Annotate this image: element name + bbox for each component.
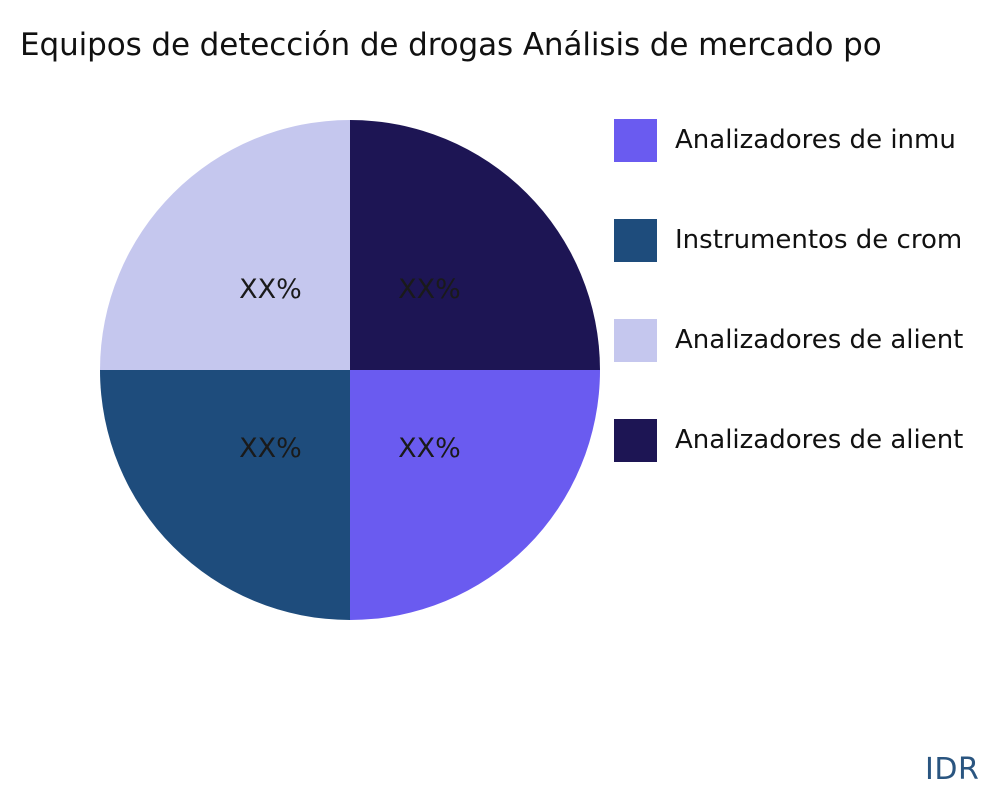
legend-swatch-icon: [614, 319, 657, 362]
legend-swatch-icon: [614, 119, 657, 162]
legend-item-label: Analizadores de inmu: [675, 119, 956, 162]
watermark-idr: IDR: [925, 752, 979, 788]
legend-item[interactable]: Analizadores de alient: [614, 419, 1000, 462]
pie-slice-label: XX%: [239, 274, 302, 305]
legend-item[interactable]: Analizadores de alient: [614, 319, 1000, 362]
legend-swatch-icon: [614, 419, 657, 462]
page-title: Equipos de detección de drogas Análisis …: [20, 25, 1000, 65]
pie-slice[interactable]: [100, 120, 350, 370]
pie-slice-group: [100, 120, 600, 620]
legend-item[interactable]: Analizadores de inmu: [614, 119, 1000, 162]
legend-item[interactable]: Instrumentos de crom: [614, 219, 1000, 262]
chart-canvas: Equipos de detección de drogas Análisis …: [0, 0, 1000, 800]
legend-swatch-icon: [614, 219, 657, 262]
pie-slice-label: XX%: [398, 274, 461, 305]
pie-slice[interactable]: [350, 120, 600, 370]
pie-slice[interactable]: [100, 370, 350, 620]
chart-legend: Analizadores de inmuInstrumentos de crom…: [614, 119, 1000, 519]
pie-svg: XX%XX%XX%XX%: [100, 120, 600, 620]
pie-slice-label: XX%: [239, 433, 302, 464]
legend-item-label: Instrumentos de crom: [675, 219, 962, 262]
pie-chart: XX%XX%XX%XX%: [100, 120, 600, 620]
pie-slice-label: XX%: [398, 433, 461, 464]
pie-slice[interactable]: [350, 370, 600, 620]
legend-item-label: Analizadores de alient: [675, 319, 963, 362]
legend-item-label: Analizadores de alient: [675, 419, 963, 462]
